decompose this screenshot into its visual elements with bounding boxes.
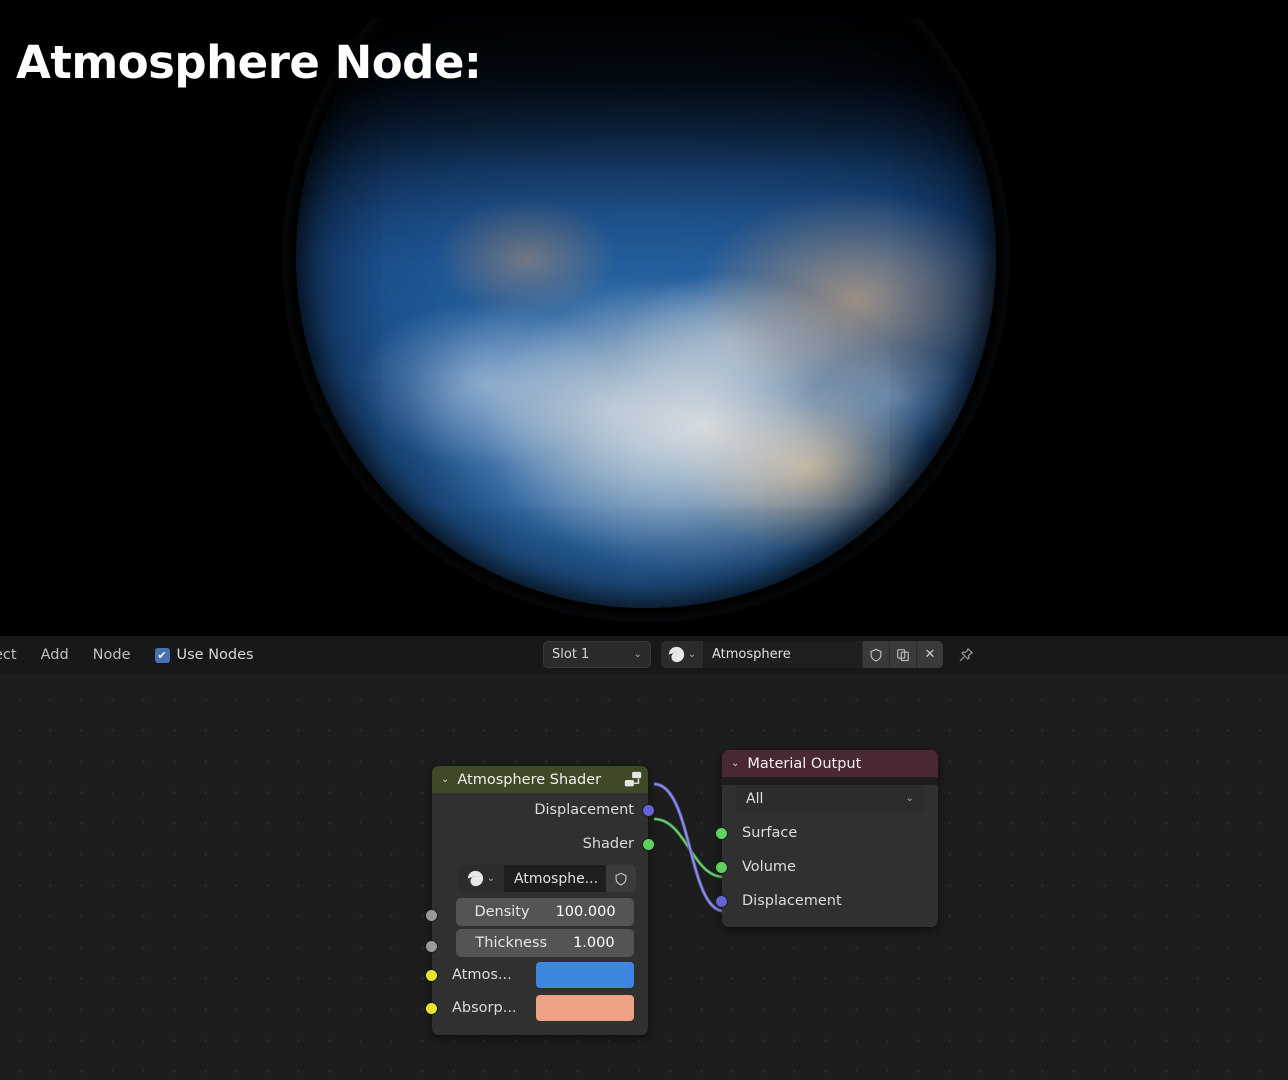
node-body-atmosphere-shader: Displacement Shader: [432, 793, 648, 1035]
socket-surface-in[interactable]: [715, 827, 728, 840]
duplicate-icon[interactable]: [889, 641, 916, 668]
unlink-button[interactable]: ✕: [916, 641, 943, 668]
node-group-icon[interactable]: [622, 770, 644, 794]
input-label: Volume: [742, 859, 796, 875]
fake-user-shield-icon[interactable]: [862, 641, 889, 668]
input-thickness: Thickness 1.000: [432, 929, 648, 957]
earth-atmosphere-glow: [282, 0, 1010, 622]
output-shader[interactable]: Shader: [432, 827, 648, 861]
node-header-atmosphere-shader[interactable]: ⌄ Atmosphere Shader: [432, 766, 648, 793]
input-label: Displacement: [742, 893, 842, 909]
use-nodes-checkbox[interactable]: ✔ Use Nodes: [143, 647, 266, 663]
output-label: Shader: [583, 836, 634, 852]
app-root: Atmosphere Node: ect Add Node ✔ Use Node…: [0, 0, 1288, 1080]
socket-absorption-color-in[interactable]: [425, 1002, 438, 1015]
link-displacement-to-displacement-core: [654, 784, 724, 911]
menu-add[interactable]: Add: [29, 647, 81, 663]
earth-top-mask: [256, 0, 1046, 18]
chevron-down-icon: ⌄: [487, 874, 495, 884]
material-sphere-icon: [668, 646, 685, 663]
absorption-color-swatch[interactable]: [536, 995, 634, 1021]
material-sphere-icon: [467, 870, 484, 887]
absorption-color-label: Absorp...: [452, 1000, 526, 1016]
density-slider[interactable]: Density 100.000: [456, 898, 634, 926]
target-enum[interactable]: All ⌄: [736, 785, 924, 812]
node-material-output[interactable]: ⌄ Material Output All ⌄ Surface Volume: [722, 750, 938, 927]
thickness-label: Thickness: [475, 935, 547, 951]
slot-selector[interactable]: Slot 1 ⌄: [543, 641, 651, 668]
input-absorption-color: Absorp...: [432, 993, 634, 1023]
material-name-field[interactable]: Atmosphere: [703, 641, 862, 668]
checkmark-icon: ✔: [155, 648, 170, 663]
menu-node[interactable]: Node: [81, 647, 143, 663]
node-body-material-output: All ⌄ Surface Volume Displacement: [722, 785, 938, 927]
slot-label: Slot 1: [552, 647, 589, 662]
node-tree-browse-button[interactable]: ⌄: [458, 865, 504, 892]
input-atmosphere-color: Atmos...: [432, 960, 634, 990]
node-tree-selector: ⌄ Atmosphe...: [458, 865, 636, 892]
chevron-down-icon: ⌄: [906, 794, 914, 804]
shader-node-editor: ect Add Node ✔ Use Nodes Slot 1 ⌄: [0, 636, 1288, 1080]
render-viewport: Atmosphere Node:: [0, 0, 1288, 636]
link-shader-to-volume-core: [654, 819, 724, 877]
socket-volume-in[interactable]: [715, 861, 728, 874]
node-title: Atmosphere Shader: [457, 772, 601, 788]
node-canvas[interactable]: ⌄ Atmosphere Shader Displacement: [0, 674, 1288, 1080]
material-browse-button[interactable]: ⌄: [661, 641, 703, 668]
socket-displacement-out[interactable]: [642, 804, 655, 817]
socket-displacement-in[interactable]: [715, 895, 728, 908]
input-displacement[interactable]: Displacement: [722, 884, 938, 918]
density-label: Density: [474, 904, 529, 920]
header-right-cluster: Slot 1 ⌄ ⌄ Atmosphere: [543, 641, 979, 668]
node-tree-name-field[interactable]: Atmosphe...: [504, 865, 606, 892]
input-density: Density 100.000: [432, 898, 648, 926]
socket-atmosphere-color-in[interactable]: [425, 969, 438, 982]
density-value: 100.000: [556, 904, 616, 920]
fake-user-shield-icon[interactable]: [606, 865, 636, 892]
menu-select[interactable]: ect: [0, 647, 29, 663]
input-label: Surface: [742, 825, 797, 841]
output-displacement[interactable]: Displacement: [432, 793, 648, 827]
input-volume[interactable]: Volume: [722, 850, 938, 884]
earth-render: [296, 58, 996, 513]
socket-shader-out[interactable]: [642, 838, 655, 851]
socket-thickness-in[interactable]: [425, 940, 438, 953]
node-header-material-output[interactable]: ⌄ Material Output: [722, 750, 938, 777]
chevron-down-icon: ⌄: [688, 650, 696, 660]
input-surface[interactable]: Surface: [722, 816, 938, 850]
thickness-value: 1.000: [573, 935, 615, 951]
chevron-down-icon: ⌄: [634, 650, 642, 660]
page-title: Atmosphere Node:: [16, 36, 481, 89]
link-shader-to-volume: [654, 819, 724, 877]
material-id-block: ⌄ Atmosphere ✕: [661, 641, 943, 668]
output-label: Displacement: [534, 802, 634, 818]
link-displacement-to-displacement: [654, 784, 724, 911]
chevron-down-icon[interactable]: ⌄: [441, 774, 449, 785]
pin-icon[interactable]: [953, 642, 979, 668]
thickness-slider[interactable]: Thickness 1.000: [456, 929, 634, 957]
chevron-down-icon[interactable]: ⌄: [731, 758, 739, 769]
use-nodes-label: Use Nodes: [177, 647, 254, 663]
target-label: All: [746, 791, 763, 807]
node-title: Material Output: [747, 756, 861, 772]
atmosphere-color-swatch[interactable]: [536, 962, 634, 988]
atmosphere-color-label: Atmos...: [452, 967, 526, 983]
node-atmosphere-shader[interactable]: ⌄ Atmosphere Shader Displacement: [432, 766, 648, 1035]
socket-density-in[interactable]: [425, 909, 438, 922]
